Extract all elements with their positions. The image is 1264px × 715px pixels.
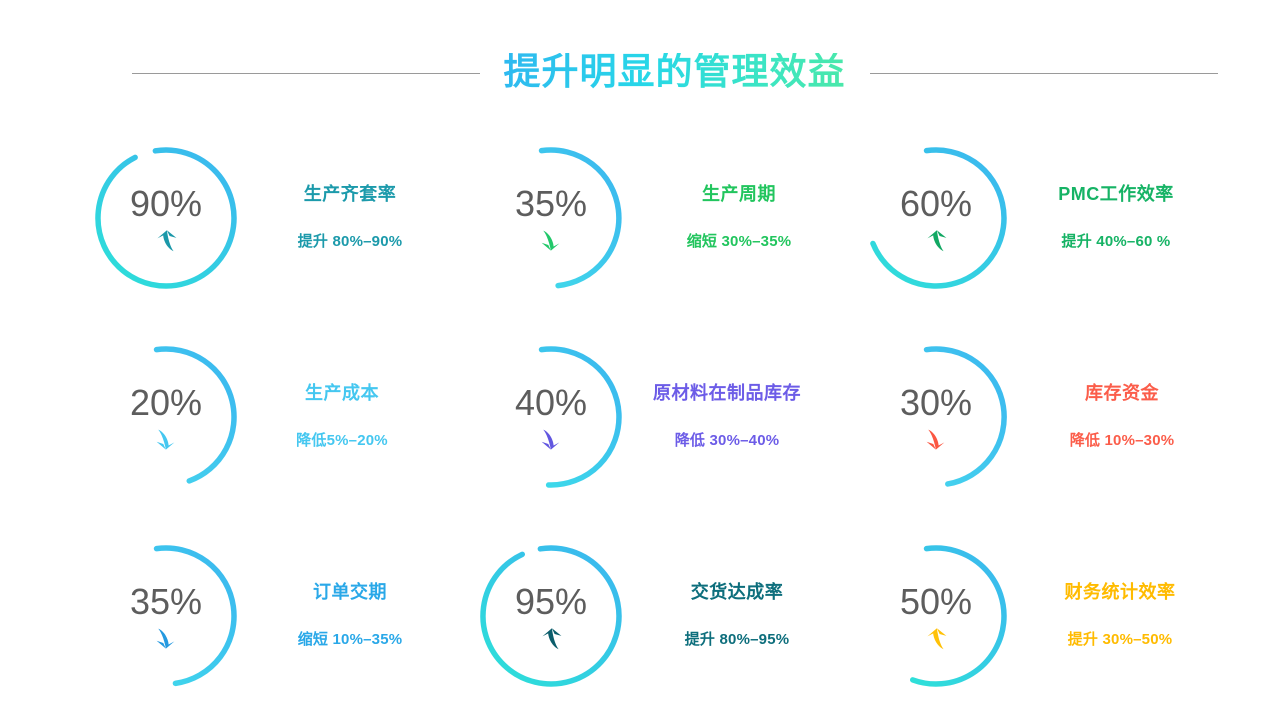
- gauge-subtitle: 提升 30%–50%: [1068, 631, 1173, 649]
- gauge-value: 35%: [84, 584, 248, 620]
- gauge-title: 生产成本: [305, 383, 379, 405]
- gauge-labels: 交货达成率提升 80%–95%: [653, 582, 821, 650]
- gauge-title: 财务统计效率: [1065, 582, 1176, 604]
- gauge-title: PMC工作效率: [1058, 184, 1174, 206]
- gauge-labels: 原材料在制品库存降低 30%–40%: [643, 383, 811, 451]
- gauge-card[interactable]: 35%订单交期缩短 10%–35%: [70, 516, 455, 715]
- gauge-labels: 生产周期缩短 30%–35%: [655, 184, 823, 252]
- gauge-title: 库存资金: [1085, 383, 1159, 405]
- gauge-grid: 90%生产齐套率提升 80%–90%35%生产周期缩短 30%–35%60%PM…: [70, 118, 1210, 710]
- gauge-value: 30%: [854, 385, 1018, 421]
- gauge-subtitle: 降低 30%–40%: [675, 432, 780, 450]
- gauge-labels: 财务统计效率提升 30%–50%: [1036, 582, 1204, 650]
- gauge-title: 生产齐套率: [304, 184, 397, 206]
- gauge-subtitle: 缩短 30%–35%: [687, 233, 792, 251]
- arrow-down-icon: [84, 626, 248, 660]
- gauge-value: 50%: [854, 584, 1018, 620]
- gauge-subtitle: 降低5%–20%: [296, 432, 388, 450]
- gauge-subtitle: 提升 80%–90%: [298, 233, 403, 251]
- gauge-card[interactable]: 20%生产成本降低5%–20%: [70, 317, 455, 516]
- gauge-value: 20%: [84, 385, 248, 421]
- gauge-subtitle: 提升 40%–60 %: [1062, 233, 1171, 251]
- gauge-card[interactable]: 30%库存资金降低 10%–30%: [840, 317, 1225, 516]
- page-title: 提升明显的管理效益: [502, 53, 848, 94]
- arrow-down-icon: [469, 228, 633, 262]
- gauge-value: 90%: [84, 186, 248, 222]
- gauge-value: 60%: [854, 186, 1018, 222]
- gauge-subtitle: 降低 10%–30%: [1070, 432, 1175, 450]
- gauge-labels: 库存资金降低 10%–30%: [1038, 383, 1206, 451]
- gauge-card[interactable]: 35%生产周期缩短 30%–35%: [455, 118, 840, 317]
- header-divider-right: [870, 73, 1218, 74]
- gauge-labels: 生产成本降低5%–20%: [258, 383, 426, 451]
- arrow-down-icon: [469, 427, 633, 461]
- arrow-down-icon: [84, 427, 248, 461]
- gauge-ring: 20%: [84, 335, 248, 499]
- gauge-ring: 90%: [84, 136, 248, 300]
- arrow-up-icon: [469, 626, 633, 660]
- gauge-ring: 35%: [84, 534, 248, 698]
- arrow-down-icon: [854, 427, 1018, 461]
- gauge-value: 35%: [469, 186, 633, 222]
- gauge-title: 交货达成率: [691, 582, 784, 604]
- gauge-subtitle: 缩短 10%–35%: [298, 631, 403, 649]
- arrow-up-icon: [854, 626, 1018, 660]
- gauge-ring: 40%: [469, 335, 633, 499]
- gauge-ring: 50%: [854, 534, 1018, 698]
- gauge-card[interactable]: 60%PMC工作效率提升 40%–60 %: [840, 118, 1225, 317]
- gauge-labels: PMC工作效率提升 40%–60 %: [1032, 184, 1200, 252]
- gauge-value: 40%: [469, 385, 633, 421]
- header-divider-left: [132, 73, 480, 74]
- gauge-value: 95%: [469, 584, 633, 620]
- arrow-up-icon: [854, 228, 1018, 262]
- gauge-card[interactable]: 40%原材料在制品库存降低 30%–40%: [455, 317, 840, 516]
- gauge-ring: 60%: [854, 136, 1018, 300]
- gauge-ring: 95%: [469, 534, 633, 698]
- gauge-title: 订单交期: [313, 582, 387, 604]
- gauge-card[interactable]: 50%财务统计效率提升 30%–50%: [840, 516, 1225, 715]
- gauge-card[interactable]: 95%交货达成率提升 80%–95%: [455, 516, 840, 715]
- gauge-ring: 30%: [854, 335, 1018, 499]
- page-header: 提升明显的管理效益: [0, 38, 1264, 108]
- gauge-subtitle: 提升 80%–95%: [685, 631, 790, 649]
- gauge-ring: 35%: [469, 136, 633, 300]
- gauge-title: 原材料在制品库存: [653, 383, 801, 405]
- gauge-labels: 生产齐套率提升 80%–90%: [266, 184, 434, 252]
- gauge-card[interactable]: 90%生产齐套率提升 80%–90%: [70, 118, 455, 317]
- gauge-labels: 订单交期缩短 10%–35%: [266, 582, 434, 650]
- gauge-title: 生产周期: [702, 184, 776, 206]
- arrow-up-icon: [84, 228, 248, 262]
